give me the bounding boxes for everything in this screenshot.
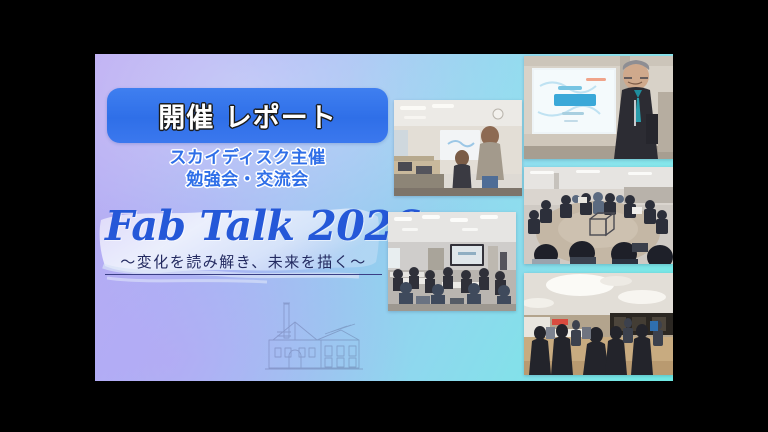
event-report-banner: 開催 レポート スカイディスク主催 勉強会・交流会 Fab Talk 2026 … [95, 54, 673, 381]
photo-classroom-seated [388, 212, 516, 311]
screenshot-stage: 開催 レポート スカイディスク主催 勉強会・交流会 Fab Talk 2026 … [0, 0, 768, 432]
photo-speaker-slide [524, 56, 673, 159]
host-subtitle-block: スカイディスク主催 勉強会・交流会 [107, 148, 388, 192]
photo-circle-discussion [524, 167, 673, 264]
event-tagline: 〜変化を読み解き、未来を描く〜 [105, 251, 382, 275]
host-subtitle-line-2: 勉強会・交流会 [107, 170, 388, 192]
photo-networking [524, 273, 673, 375]
event-title: Fab Talk 2026 [105, 206, 395, 248]
factory-building-line-art-icon [255, 296, 365, 374]
host-subtitle-line-1: スカイディスク主催 [107, 148, 388, 170]
event-report-badge-label: 開催 レポート [158, 96, 336, 135]
photo-lecture-standing [394, 100, 522, 196]
event-report-badge[interactable]: 開催 レポート [107, 88, 388, 143]
event-title-block: Fab Talk 2026 〜変化を読み解き、未来を描く〜 [105, 206, 395, 275]
